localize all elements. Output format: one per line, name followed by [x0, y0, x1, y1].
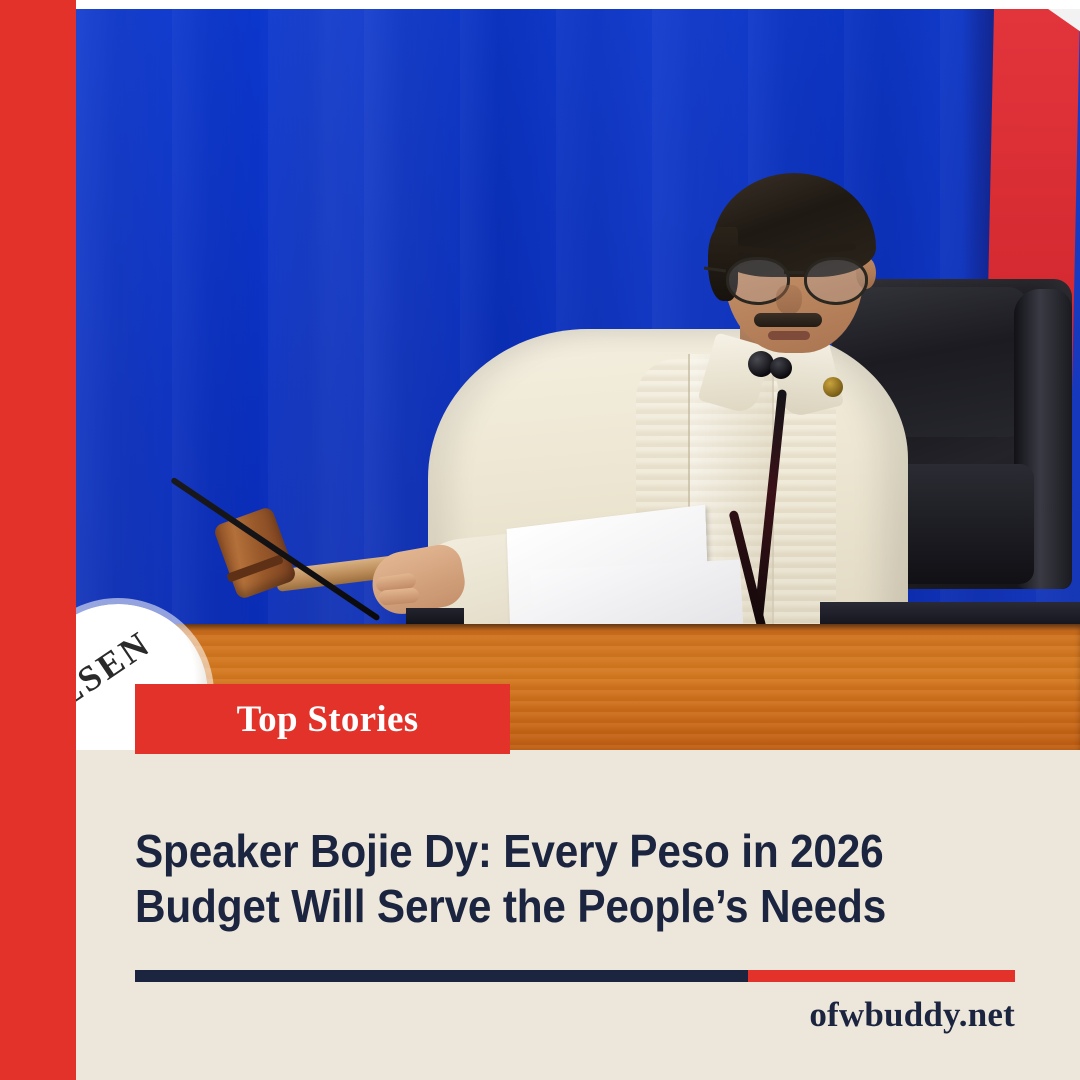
top-white-gutter: [76, 0, 1080, 9]
person-mustache: [754, 313, 822, 327]
divider-segment-navy: [135, 970, 748, 982]
divider-bar: [135, 970, 1015, 982]
headline-text: Speaker Bojie Dy: Every Peso in 2026 Bud…: [135, 824, 926, 934]
site-handle: ofwbuddy.net: [809, 995, 1015, 1035]
top-stories-badge[interactable]: Top Stories: [135, 684, 510, 754]
person-mouth: [768, 331, 810, 340]
top-stories-badge-label: Top Stories: [227, 701, 419, 738]
left-accent-stripe: [0, 0, 76, 1080]
news-story-card: ESEN Top Stories Speaker Bojie Dy: Every…: [0, 0, 1080, 1080]
rostrum-top-edge: [76, 624, 1080, 631]
rostrum-ledge-right: [820, 602, 1080, 626]
divider-segment-red: [748, 970, 1015, 982]
eyeglass-bridge: [784, 271, 804, 274]
person-nose: [776, 285, 802, 315]
flag-white-corner: [1040, 9, 1080, 39]
microphone-head: [770, 357, 792, 379]
story-photo: ESEN: [76, 9, 1080, 750]
lapel-pin-icon: [823, 377, 843, 397]
eyeglass-lens-right: [804, 257, 868, 305]
